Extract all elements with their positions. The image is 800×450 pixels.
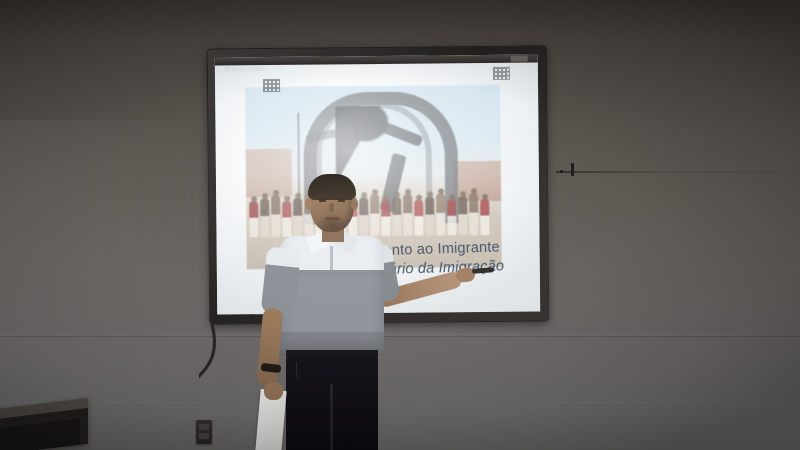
- photo-vignette: [0, 0, 800, 450]
- classroom-photo-scene: Brasil 1990 Monumento ao Imigrante Cente…: [0, 0, 800, 450]
